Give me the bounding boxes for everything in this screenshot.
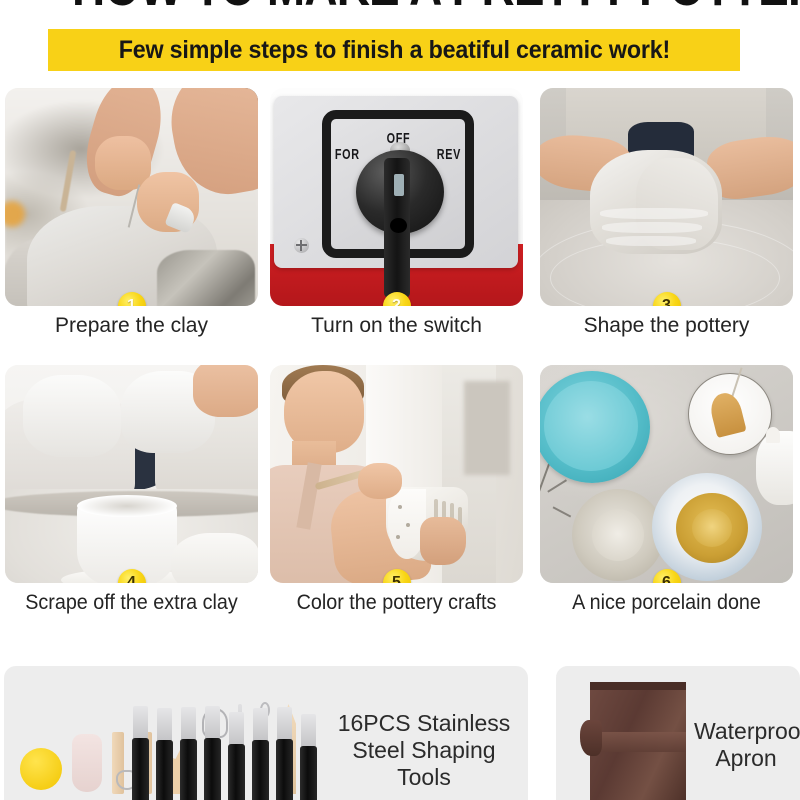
steps-row-1: 1 Prepare the clay FOR OFF REV: [0, 88, 800, 365]
step-card-2[interactable]: FOR OFF REV 2 Turn on the switch: [270, 88, 523, 306]
step-caption-5: Color the pottery crafts: [266, 591, 526, 615]
screw-icon: [294, 238, 309, 253]
panel-notch: [556, 666, 597, 676]
page-title: HOW TO MAKE A PRETTY POTTERY?: [0, 0, 800, 19]
subtitle-text: Few simple steps to finish a beatiful ce…: [118, 36, 669, 65]
steel-tools-group: [132, 706, 328, 800]
page-title-text: HOW TO MAKE A PRETTY POTTERY?: [72, 0, 728, 14]
step-caption-2: Turn on the switch: [258, 314, 535, 338]
step-card-5[interactable]: 5 Color the pottery crafts: [270, 365, 523, 583]
panel-waterproof-apron[interactable]: Waterproof Apron: [556, 666, 800, 800]
tools-label: 16PCS Stainless Steel Shaping Tools: [334, 710, 514, 791]
subtitle-banner: Few simple steps to finish a beatiful ce…: [48, 29, 740, 71]
step-caption-4: Scrape off the extra clay: [1, 591, 261, 615]
step-card-3[interactable]: 3 Shape the pottery: [540, 88, 793, 306]
steps-row-2: 4 Scrape off the extra clay: [0, 365, 800, 642]
panel-shaping-tools[interactable]: 16PCS Stainless Steel Shaping Tools: [4, 666, 528, 800]
step-photo-shape-pottery: 3: [540, 88, 793, 306]
step-card-6[interactable]: 6 A nice porcelain done: [540, 365, 793, 583]
step-card-1[interactable]: 1 Prepare the clay: [5, 88, 258, 306]
step-caption-3: Shape the pottery: [528, 314, 800, 338]
infographic-page: HOW TO MAKE A PRETTY POTTERY? Few simple…: [0, 0, 800, 800]
step-caption-6: A nice porcelain done: [536, 591, 796, 615]
switch-label-rev: REV: [437, 146, 461, 163]
accessory-panels: 16PCS Stainless Steel Shaping Tools Wate…: [0, 666, 800, 800]
panel-notch: [247, 666, 305, 676]
sponge-tool: [20, 748, 62, 790]
step-caption-1: Prepare the clay: [0, 314, 270, 338]
step-photo-switch: FOR OFF REV 2: [270, 88, 523, 306]
switch-label-for: FOR: [335, 146, 360, 163]
step-photo-finished-porcelain: 6: [540, 365, 793, 583]
step-card-4[interactable]: 4 Scrape off the extra clay: [5, 365, 258, 583]
rubber-rib-tool: [72, 734, 102, 792]
steps-grid: 1 Prepare the clay FOR OFF REV: [0, 88, 800, 642]
step-photo-scrape-clay: 4: [5, 365, 258, 583]
step-photo-prepare-clay: 1: [5, 88, 258, 306]
step-photo-color-crafts: 5: [270, 365, 523, 583]
apron-label: Waterproof Apron: [694, 718, 798, 772]
